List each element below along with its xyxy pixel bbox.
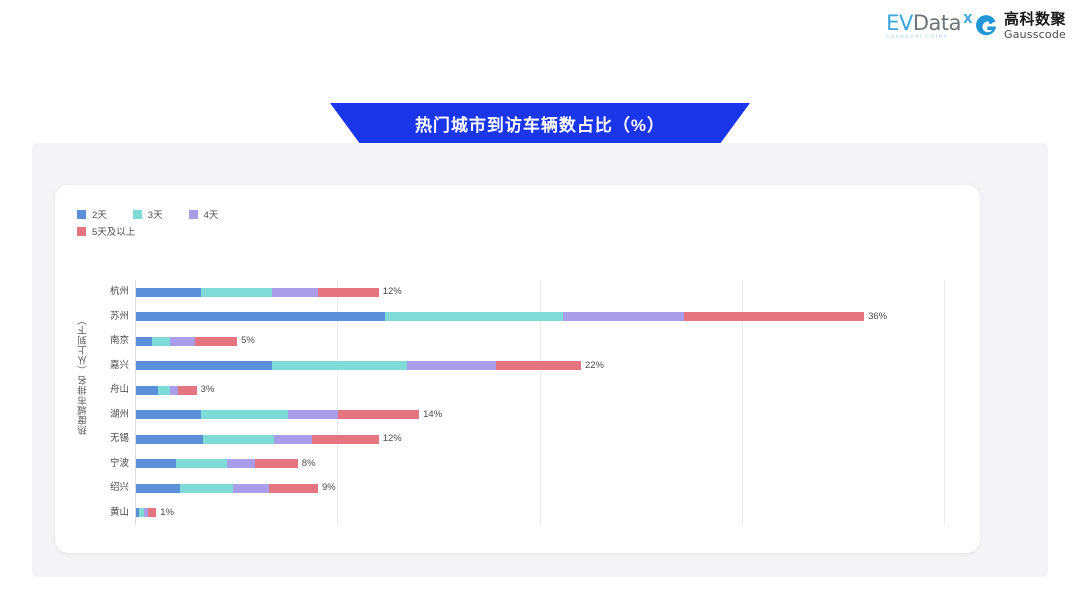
category-label: 绍兴 [95, 476, 129, 501]
category-label: 湖州 [95, 403, 129, 428]
bar-segment[interactable] [407, 361, 496, 370]
category-label: 嘉兴 [95, 354, 129, 379]
bar-value-label: 1% [160, 501, 174, 526]
logo-group: EVData X SHANGHAI CHINA 高科数聚 Gausscode [886, 12, 1066, 40]
category-label: 苏州 [95, 305, 129, 330]
bar-value-label: 8% [302, 452, 316, 477]
chart-title-banner: 热门城市到访车辆数占比（%） [330, 103, 750, 143]
evdata-x-superscript: X [963, 8, 972, 30]
bar-value-label: 9% [322, 476, 336, 501]
bar-segment[interactable] [170, 386, 178, 395]
bar-value-label: 12% [383, 427, 402, 452]
bar-row: 杭州12% [55, 280, 980, 305]
evdata-ev-text: EV [886, 11, 913, 35]
stacked-bar[interactable] [136, 386, 197, 395]
bar-segment[interactable] [269, 484, 318, 493]
bar-segment[interactable] [385, 312, 563, 321]
category-label: 杭州 [95, 280, 129, 305]
bar-value-label: 14% [423, 403, 442, 428]
bar-segment[interactable] [203, 435, 274, 444]
bar-segment[interactable] [227, 459, 255, 468]
stacked-bar[interactable] [136, 410, 419, 419]
bar-row: 无锡12% [55, 427, 980, 452]
category-label: 黄山 [95, 501, 129, 526]
evdata-tagline: SHANGHAI CHINA [886, 35, 948, 40]
stacked-bar[interactable] [136, 484, 318, 493]
stacked-bar[interactable] [136, 288, 379, 297]
stacked-bar[interactable] [136, 435, 379, 444]
bar-value-label: 22% [585, 354, 604, 379]
bar-segment[interactable] [318, 288, 379, 297]
bar-segment[interactable] [136, 312, 385, 321]
bar-row: 宁波8% [55, 452, 980, 477]
evdata-wordmark: EVData X [886, 12, 961, 34]
gausscode-en-name: Gausscode [1004, 29, 1066, 40]
bar-row: 舟山3% [55, 378, 980, 403]
plot-area: 热度城市排名（从上到下） 杭州12%苏州36%南京5%嘉兴22%舟山3%湖州14… [55, 185, 980, 553]
bar-segment[interactable] [233, 484, 269, 493]
bar-segment[interactable] [136, 459, 176, 468]
stacked-bar[interactable] [136, 337, 237, 346]
bar-segment[interactable] [274, 435, 312, 444]
bar-row: 绍兴9% [55, 476, 980, 501]
bar-segment[interactable] [338, 410, 419, 419]
gausscode-logo: 高科数聚 Gausscode [975, 12, 1066, 40]
stacked-bar[interactable] [136, 361, 581, 370]
bar-value-label: 12% [383, 280, 402, 305]
category-label: 舟山 [95, 378, 129, 403]
bar-row: 南京5% [55, 329, 980, 354]
bar-segment[interactable] [201, 410, 288, 419]
bar-segment[interactable] [136, 337, 152, 346]
bar-segment[interactable] [136, 288, 201, 297]
bar-row: 湖州14% [55, 403, 980, 428]
bar-segment[interactable] [136, 410, 201, 419]
bar-segment[interactable] [178, 386, 196, 395]
bar-segment[interactable] [312, 435, 379, 444]
bar-row: 嘉兴22% [55, 354, 980, 379]
bar-segment[interactable] [496, 361, 581, 370]
stacked-bar[interactable] [136, 312, 864, 321]
chart-card: 2天 3天 4天 5天及以上 热度城市排名（从上到下） 杭州12%苏州36%南京… [55, 185, 980, 553]
category-label: 无锡 [95, 427, 129, 452]
bar-segment[interactable] [180, 484, 233, 493]
gausscode-text: 高科数聚 Gausscode [1004, 12, 1066, 40]
bar-segment[interactable] [136, 484, 180, 493]
bar-segment[interactable] [170, 337, 194, 346]
bar-value-label: 5% [241, 329, 255, 354]
bar-value-label: 3% [201, 378, 215, 403]
bar-segment[interactable] [272, 288, 319, 297]
bar-value-label: 36% [868, 305, 887, 330]
gausscode-cn-name: 高科数聚 [1004, 12, 1066, 27]
bar-segment[interactable] [152, 337, 170, 346]
stacked-bar[interactable] [136, 459, 298, 468]
category-label: 南京 [95, 329, 129, 354]
evdata-logo: EVData X SHANGHAI CHINA [886, 12, 961, 40]
bar-row: 苏州36% [55, 305, 980, 330]
category-label: 宁波 [95, 452, 129, 477]
bar-segment[interactable] [136, 435, 203, 444]
bar-segment[interactable] [272, 361, 408, 370]
bar-segment[interactable] [201, 288, 272, 297]
bar-segment[interactable] [136, 386, 158, 395]
bar-segment[interactable] [563, 312, 684, 321]
stacked-bar[interactable] [136, 508, 156, 517]
bar-segment[interactable] [195, 337, 237, 346]
evdata-data-text: Data [913, 11, 961, 35]
bar-rows: 杭州12%苏州36%南京5%嘉兴22%舟山3%湖州14%无锡12%宁波8%绍兴9… [55, 280, 980, 525]
bar-row: 黄山1% [55, 501, 980, 526]
gausscode-logo-icon [975, 15, 998, 38]
bar-segment[interactable] [148, 508, 156, 517]
bar-segment[interactable] [158, 386, 170, 395]
bar-segment[interactable] [136, 361, 272, 370]
bar-segment[interactable] [255, 459, 297, 468]
page-header: EVData X SHANGHAI CHINA 高科数聚 Gausscode [0, 0, 1080, 58]
bar-segment[interactable] [176, 459, 227, 468]
bar-segment[interactable] [288, 410, 339, 419]
bar-segment[interactable] [684, 312, 864, 321]
